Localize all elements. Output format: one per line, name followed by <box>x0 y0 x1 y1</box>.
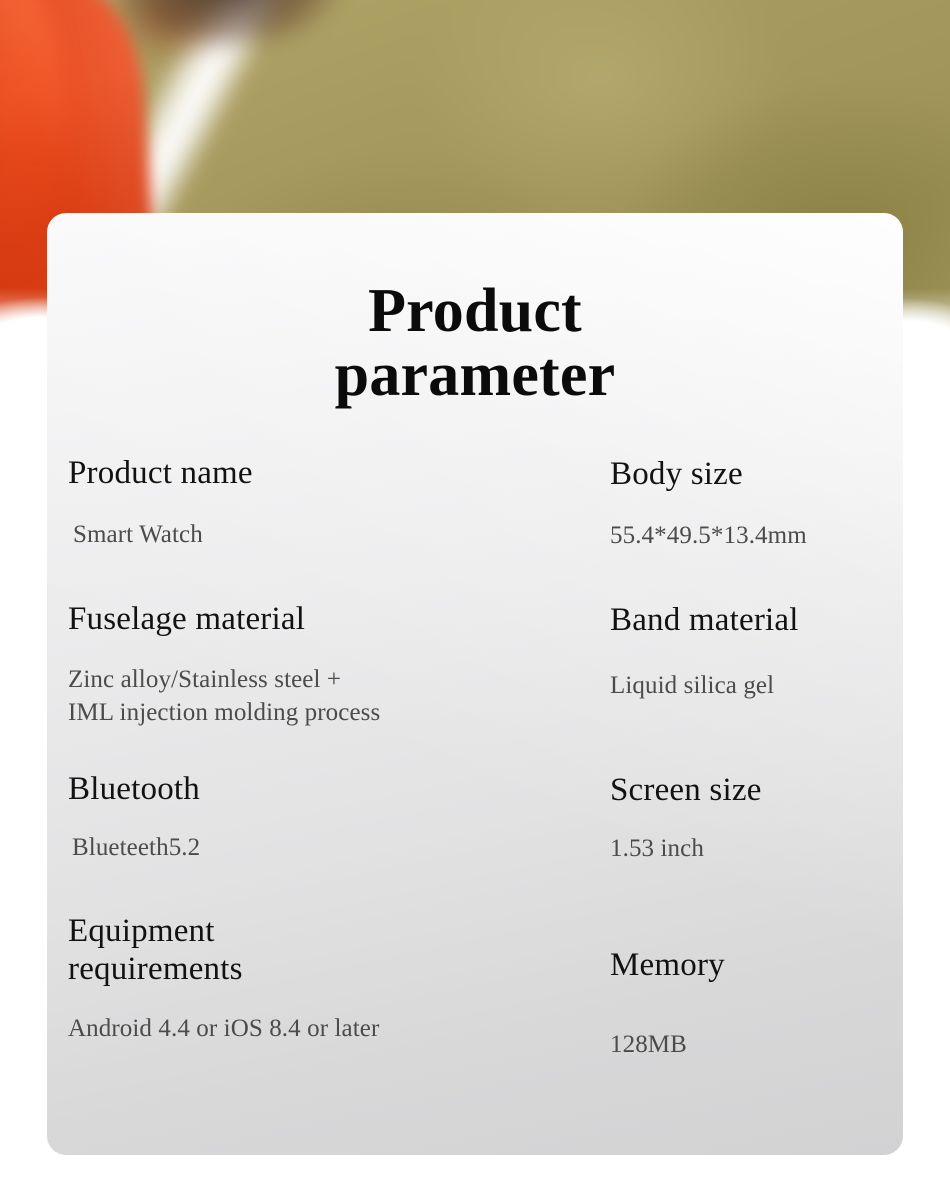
parameter-label: Memory <box>610 946 862 984</box>
parameter-label: Bluetooth <box>68 770 610 808</box>
parameter-value: Android 4.4 or iOS 8.4 or later <box>68 1012 610 1045</box>
parameter-row: Fuselage material Zinc alloy/Stainless s… <box>47 600 903 729</box>
page-title-line-2: parameter <box>47 343 903 407</box>
parameter-value: Liquid silica gel <box>610 669 862 702</box>
parameter-label: Equipment requirements <box>68 912 610 989</box>
parameter-cell-band-material: Band material Liquid silica gel <box>610 600 862 729</box>
parameter-label: Band material <box>610 601 862 639</box>
parameter-label: Fuselage material <box>68 600 610 638</box>
page-title-line-1: Product <box>47 279 903 343</box>
parameter-cell-product-name: Product name Smart Watch <box>68 454 610 552</box>
product-parameter-page: Product parameter Product name Smart Wat… <box>0 0 950 1196</box>
parameter-cell-bluetooth: Bluetooth Blueteeth5.2 <box>68 770 610 864</box>
parameter-row: Equipment requirements Android 4.4 or iO… <box>47 912 903 1061</box>
parameter-value: Blueteeth5.2 <box>68 831 610 864</box>
parameter-row: Bluetooth Blueteeth5.2 Screen size 1.53 … <box>47 770 903 864</box>
parameter-value: 55.4*49.5*13.4mm <box>610 519 862 552</box>
parameter-cell-equipment-requirements: Equipment requirements Android 4.4 or iO… <box>68 912 610 1061</box>
parameter-cell-memory: Memory 128MB <box>610 912 862 1061</box>
parameter-label: Screen size <box>610 771 862 809</box>
parameter-row: Product name Smart Watch Body size 55.4*… <box>47 454 903 552</box>
parameter-cell-screen-size: Screen size 1.53 inch <box>610 770 862 864</box>
parameter-cell-fuselage-material: Fuselage material Zinc alloy/Stainless s… <box>68 600 610 729</box>
parameter-value: 128MB <box>610 1028 862 1061</box>
parameter-value: Zinc alloy/Stainless steel + IML injecti… <box>68 663 610 729</box>
parameter-label: Product name <box>68 454 610 492</box>
parameter-label: Body size <box>610 455 862 493</box>
parameter-list: Product name Smart Watch Body size 55.4*… <box>47 454 903 1061</box>
product-parameter-card: Product parameter Product name Smart Wat… <box>47 213 903 1155</box>
parameter-value: Smart Watch <box>68 518 610 551</box>
parameter-cell-body-size: Body size 55.4*49.5*13.4mm <box>610 454 862 552</box>
page-title: Product parameter <box>47 279 903 408</box>
parameter-value: 1.53 inch <box>610 832 862 865</box>
